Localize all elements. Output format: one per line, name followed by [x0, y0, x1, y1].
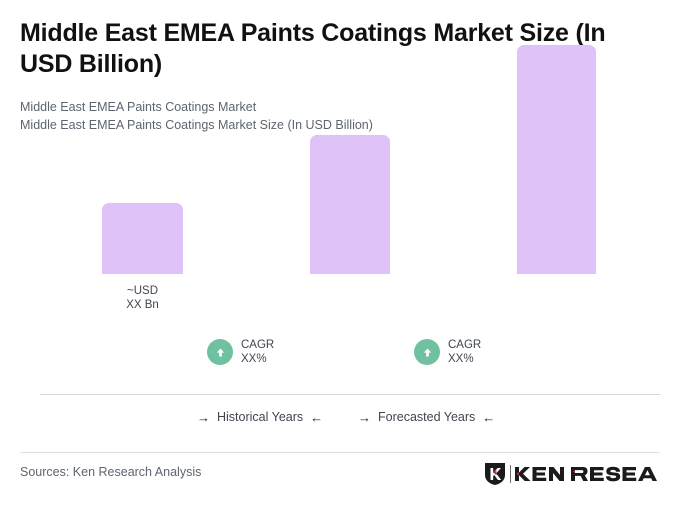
cagr-label-forecast-line2: XX% [448, 353, 474, 365]
bar-forecast[interactable] [517, 45, 596, 274]
arrow-up-icon [414, 339, 440, 365]
bar-value-label-1: ~USDXX Bn [102, 284, 183, 312]
sources-text: Sources: Ken Research Analysis [20, 465, 201, 479]
ken-research-logo [484, 462, 658, 486]
period-historical-label: Historical Years [217, 410, 303, 424]
period-forecasted-label: Forecasted Years [378, 410, 475, 424]
cagr-label-forecast-line1: CAGR [448, 339, 481, 351]
bar-historical[interactable] [102, 203, 183, 274]
bar-value-label-1-line2: XX Bn [126, 299, 159, 311]
period-forecasted-years: → Forecasted Years ← [358, 410, 495, 424]
arrow-right-icon: → [358, 411, 371, 424]
bar-value-label-1-line1: ~USD [127, 285, 158, 297]
arrow-left-icon: ← [310, 411, 323, 424]
cagr-badge-historical[interactable]: CAGRXX% [207, 338, 274, 366]
ken-research-wordmark [510, 464, 658, 484]
cagr-badge-forecast[interactable]: CAGRXX% [414, 338, 481, 366]
chart-page: Middle East EMEA Paints Coatings Market … [0, 0, 700, 520]
x-axis-line [40, 394, 660, 395]
cagr-label-forecast: CAGRXX% [448, 338, 481, 366]
footer-divider [20, 452, 660, 453]
arrow-left-icon: ← [482, 411, 495, 424]
cagr-label-historical-line2: XX% [241, 353, 267, 365]
period-historical-years: → Historical Years ← [197, 410, 323, 424]
ken-research-shield-icon [484, 462, 506, 486]
cagr-label-historical-line1: CAGR [241, 339, 274, 351]
arrow-up-icon [207, 339, 233, 365]
arrow-right-icon: → [197, 411, 210, 424]
bar-chart-plot: ~USDXX Bn ~USD77.9 Bn ~USDXX Bn CAGRXX% … [0, 0, 700, 400]
cagr-label-historical: CAGRXX% [241, 338, 274, 366]
bar-current[interactable] [310, 135, 390, 274]
